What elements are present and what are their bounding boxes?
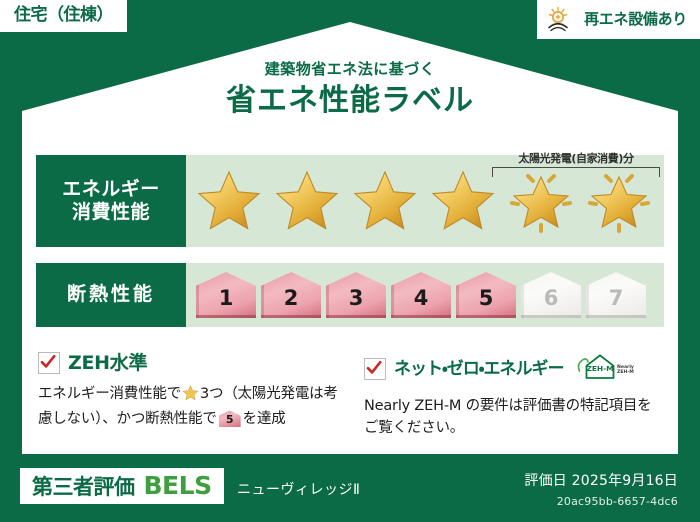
grade-number: 3	[349, 288, 364, 318]
insulation-label: 断熱性能	[67, 283, 155, 306]
grade-badge-2: 2	[261, 272, 321, 318]
checkbox-checked-icon	[38, 352, 60, 374]
grade-number: 4	[414, 288, 429, 318]
solar-sun-icon	[547, 6, 577, 32]
insulation-grades-area: 1 2 3 4 5	[186, 263, 664, 327]
grade-badge-1: 1	[196, 272, 256, 318]
stars-row	[186, 164, 656, 238]
building-name: ニューヴィレッジⅡ	[237, 483, 360, 497]
footer: 第三者評価 BELS ニューヴィレッジⅡ 評価日 2025年9月16日 20ac…	[0, 460, 700, 522]
grade-number: 2	[284, 288, 299, 318]
inline-grade-badge: 5	[219, 410, 241, 427]
star-6-solar	[582, 164, 656, 238]
grade-badge-5: 5	[456, 272, 516, 318]
badge-renewable-energy-label: 再エネ設備あり	[584, 12, 687, 27]
star-3	[348, 164, 422, 238]
badge-renewable-energy: 再エネ設備あり	[537, 0, 700, 39]
insulation-performance-row: 断熱性能 1 2 3 4	[36, 263, 664, 327]
solar-annotation-caption: 太陽光発電(自家消費)分	[492, 153, 660, 164]
grade-badge-6: 6	[521, 272, 581, 318]
feature-net-zero-energy-header: ネット・ゼロ・エネルギー ZEH-M Nearly ZEH-M	[364, 352, 664, 386]
feature-zeh-standard-header: ZEH水準	[38, 352, 338, 374]
inline-grade-number: 5	[219, 410, 241, 427]
checkbox-checked-icon	[364, 358, 386, 380]
desc-star-count: 3つ（太陽光発電	[200, 386, 309, 402]
svg-text:ZEH-M: ZEH-M	[586, 364, 613, 373]
feature-net-zero-energy-desc: Nearly ZEH-M の要件は評価書の特記項目をご覧ください。	[364, 395, 664, 440]
bels-en-label: BELS	[144, 473, 212, 498]
label-title: 省エネ性能ラベル	[0, 86, 700, 116]
feature-zeh-standard-title: ZEH水準	[68, 354, 147, 373]
badge-building-type-label: 住宅（住棟）	[14, 7, 113, 24]
desc-part-3: を達成	[243, 411, 286, 427]
energy-label-line1: エネルギー	[62, 178, 160, 201]
grade-badge-3: 3	[326, 272, 386, 318]
energy-performance-label-box: エネルギー 消費性能	[36, 155, 186, 247]
energy-label-line2: 消費性能	[72, 201, 150, 224]
feature-zeh-standard-desc: エネルギー消費性能で3つ（太陽光発電は考慮しない）、かつ断熱性能で5を達成	[38, 383, 338, 431]
bels-plate: 第三者評価 BELS	[20, 468, 224, 504]
grades-row: 1 2 3 4 5	[186, 272, 646, 318]
badge-building-type: 住宅（住棟）	[0, 0, 127, 32]
star-4	[426, 164, 500, 238]
label-subtitle: 建築物省エネ法に基づく	[0, 62, 700, 77]
star-5-solar	[504, 164, 578, 238]
feature-net-zero-energy-title: ネット・ゼロ・エネルギー	[394, 361, 564, 378]
bels-jp-label: 第三者評価	[32, 477, 135, 498]
title-block: 建築物省エネ法に基づく 省エネ性能ラベル	[0, 62, 700, 116]
evaluation-date: 評価日 2025年9月16日	[524, 474, 678, 488]
grade-number: 1	[219, 288, 234, 318]
grade-badge-7: 7	[586, 272, 646, 318]
zeh-m-logo-icon: ZEH-M Nearly ZEH-M	[575, 352, 637, 386]
grade-number: 7	[609, 288, 624, 318]
energy-stars-area: 太陽光発電(自家消費)分	[186, 155, 664, 247]
grade-number: 6	[544, 288, 559, 318]
feature-net-zero-energy: ネット・ゼロ・エネルギー ZEH-M Nearly ZEH-M Nearly Z…	[364, 352, 664, 440]
svg-text:ZEH-M: ZEH-M	[617, 369, 634, 375]
energy-performance-row: エネルギー 消費性能	[36, 155, 664, 247]
grade-badge-4: 4	[391, 272, 451, 318]
insulation-performance-label-box: 断熱性能	[36, 263, 186, 327]
grade-number: 5	[479, 288, 494, 318]
star-1	[192, 164, 266, 238]
feature-zeh-standard: ZEH水準 エネルギー消費性能で3つ（太陽光発電は考慮しない）、かつ断熱性能で5…	[38, 352, 338, 431]
inline-star-icon	[182, 385, 199, 408]
energy-performance-label: 住宅（住棟） 再エネ設備あり 建築物省エネ法に基づく 省エネ性能ラベル	[0, 0, 700, 522]
evaluation-id: 20ac95bb-6657-4dc6	[557, 496, 678, 507]
desc-part-1: エネルギー消費性能で	[38, 386, 181, 402]
star-2	[270, 164, 344, 238]
